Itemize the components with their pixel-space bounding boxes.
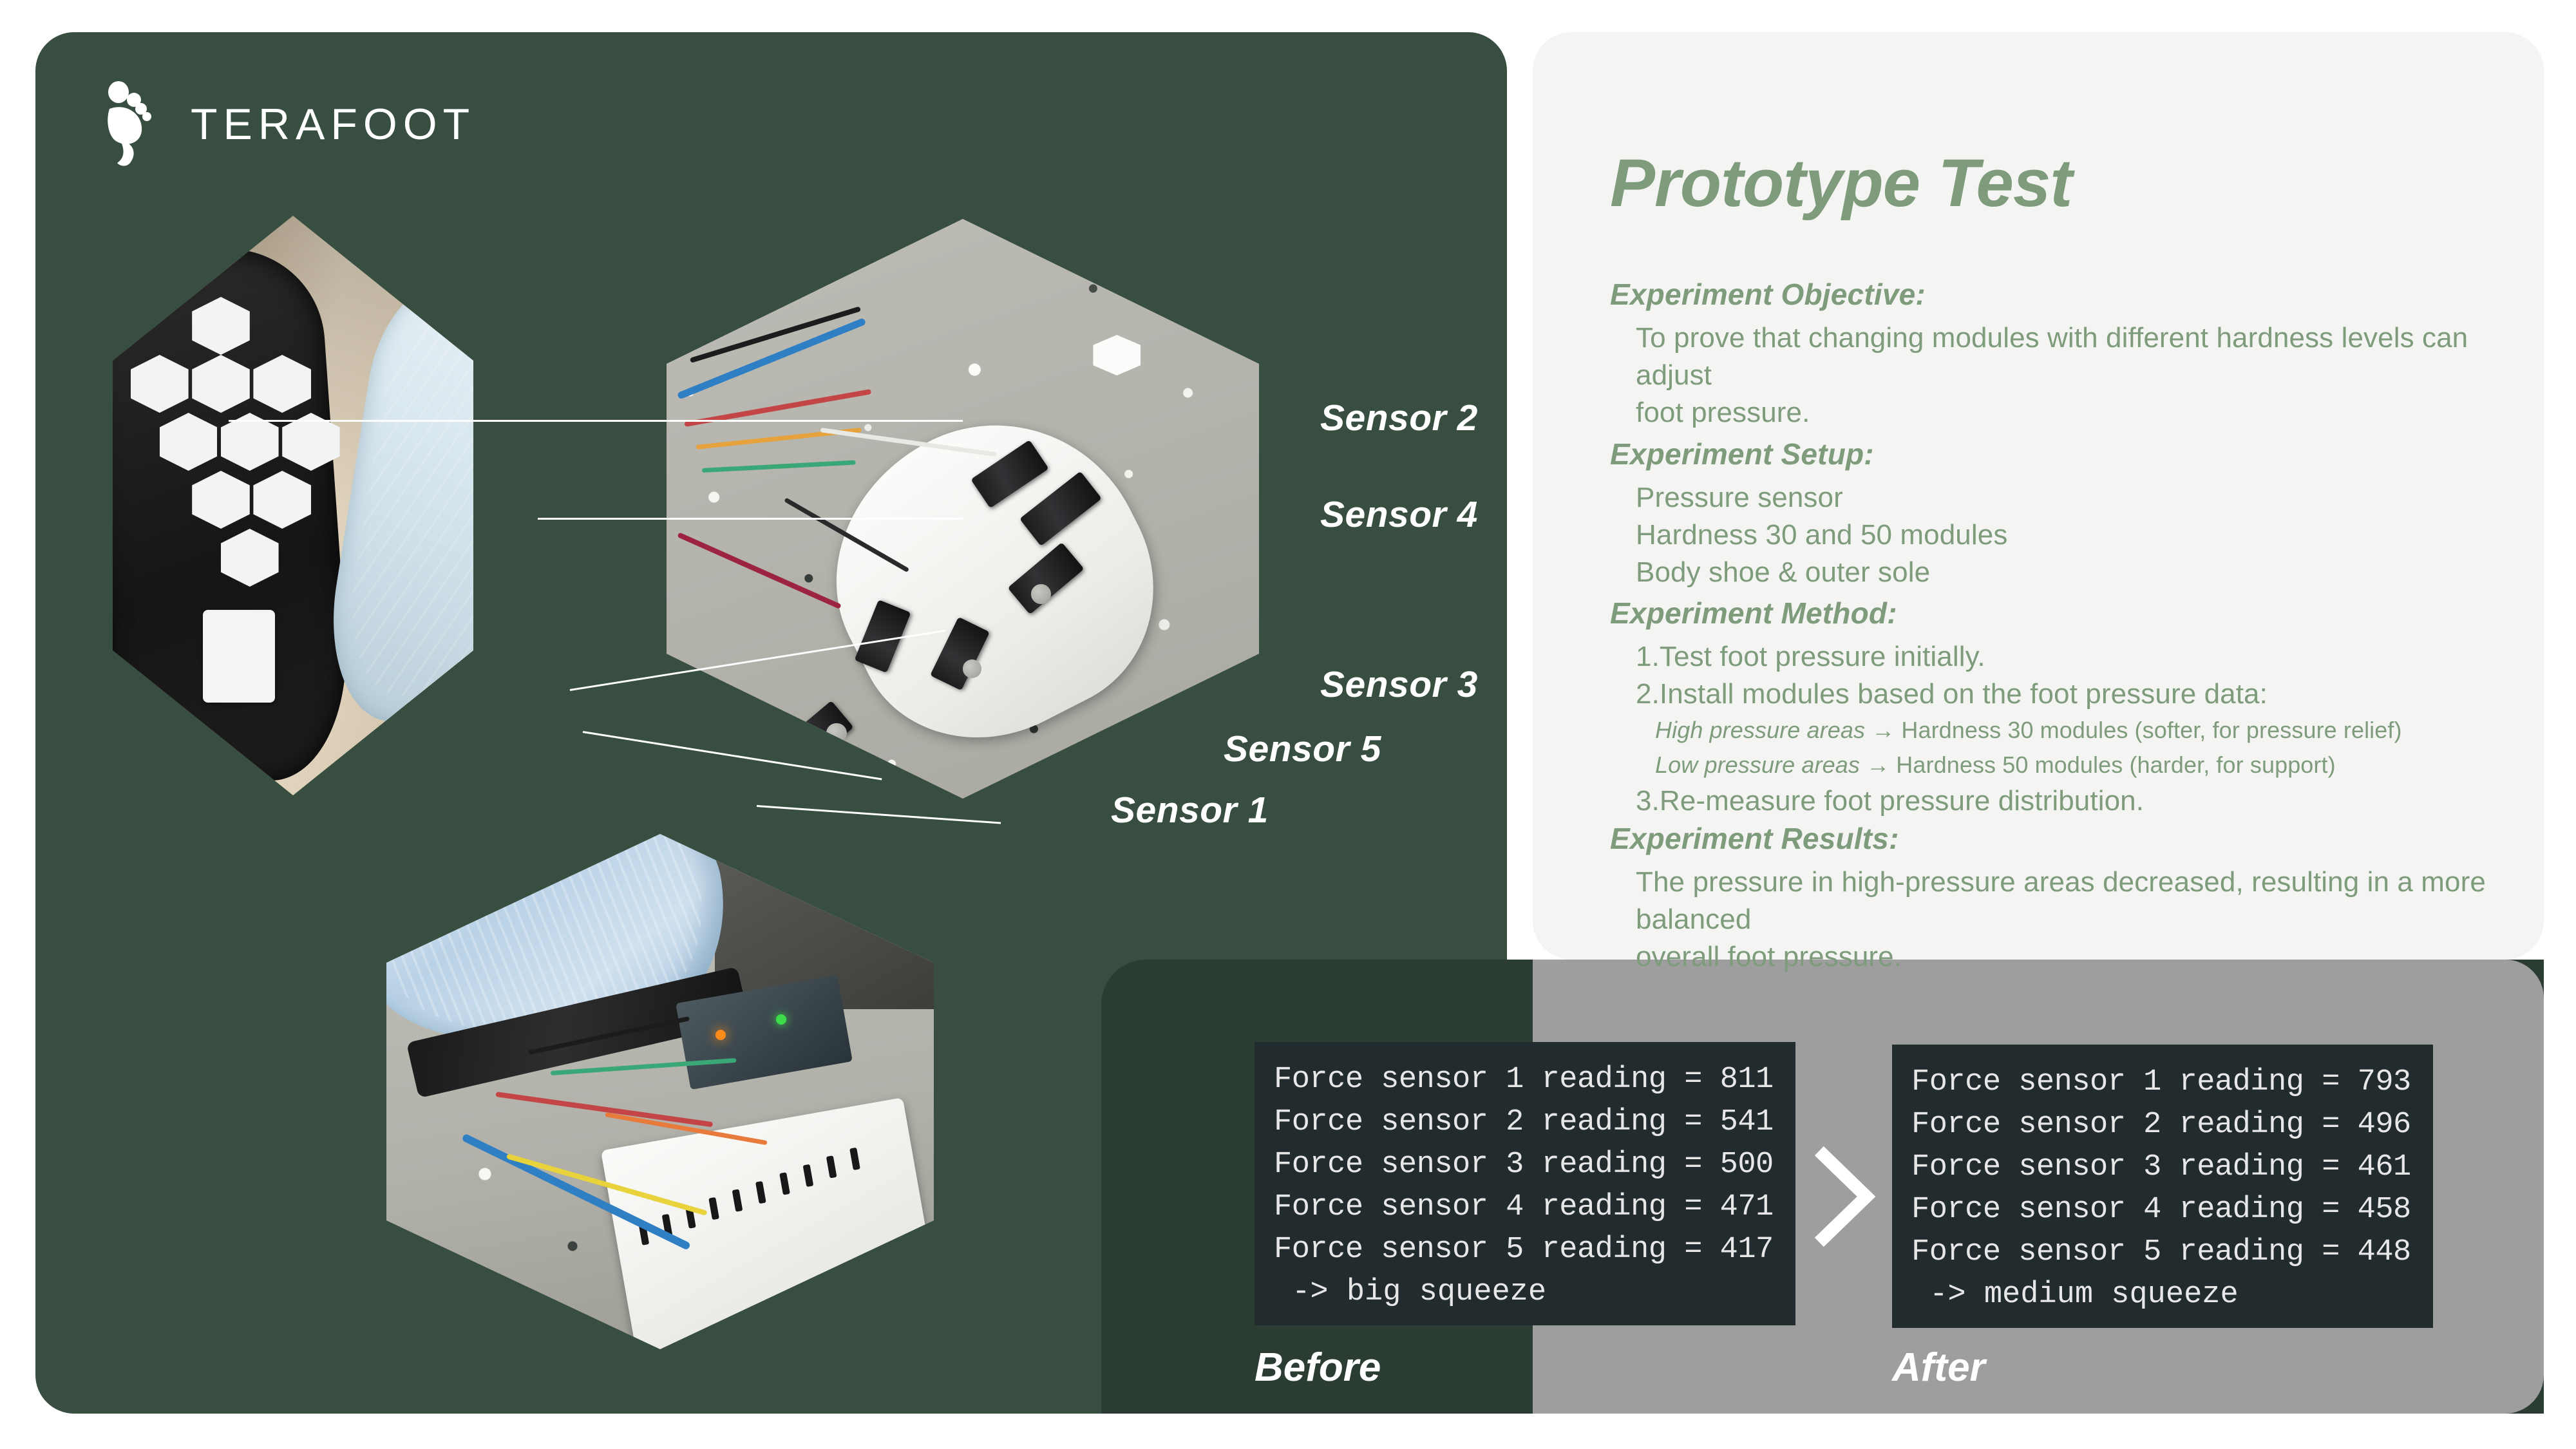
sensor-4-leader-line [538, 518, 963, 520]
setup-heading: Experiment Setup: [1610, 437, 2499, 471]
section-experiment-method: Experiment Method: 1.Test foot pressure … [1610, 596, 2499, 820]
method-step-2: 2.Install modules based on the foot pres… [1636, 676, 2499, 713]
sensor-1-leader-line [757, 805, 1001, 824]
before-label: Before [1255, 1345, 1381, 1390]
high-pressure-emphasis: High pressure areas [1655, 717, 1865, 743]
callout-sensor-1: Sensor 1 [1111, 789, 1269, 831]
after-reading-2: Force sensor 2 reading = 496 [1911, 1104, 2414, 1146]
section-experiment-objective: Experiment Objective: To prove that chan… [1610, 277, 2499, 431]
before-reading-1: Force sensor 1 reading = 811 [1274, 1059, 1776, 1101]
poster-stage: TERAFOOT [0, 0, 2576, 1449]
method-step-1: 1.Test foot pressure initially. [1636, 638, 2499, 676]
after-result-text: -> medium squeeze [1911, 1274, 2414, 1316]
after-reading-4: Force sensor 4 reading = 458 [1911, 1189, 2414, 1231]
low-pressure-emphasis: Low pressure areas [1655, 752, 1860, 778]
setup-line-3: Body shoe & outer sole [1636, 554, 2499, 591]
objective-line-2: foot pressure. [1636, 394, 2499, 431]
results-line-1: The pressure in high-pressure areas decr… [1636, 864, 2499, 938]
running-person-icon [97, 80, 167, 167]
insole-hexagon-modules-photo [113, 216, 473, 795]
method-step-3: 3.Re-measure foot pressure distribution. [1636, 782, 2499, 820]
after-reading-1: Force sensor 1 reading = 793 [1911, 1061, 2414, 1104]
section-experiment-setup: Experiment Setup: Pressure sensor Hardne… [1610, 437, 2499, 591]
method-substep-low-pressure: Low pressure areas → Hardness 50 modules… [1636, 748, 2499, 782]
after-reading-5: Force sensor 5 reading = 448 [1911, 1231, 2414, 1274]
low-pressure-rest: → Hardness 50 modules (harder, for suppo… [1860, 752, 2336, 778]
section-experiment-results: Experiment Results: The pressure in high… [1610, 821, 2499, 976]
before-reading-4: Force sensor 4 reading = 471 [1274, 1186, 1776, 1229]
objective-heading: Experiment Objective: [1610, 277, 2499, 312]
before-reading-3: Force sensor 3 reading = 500 [1274, 1144, 1776, 1186]
after-terminal-readout: Force sensor 1 reading = 793 Force senso… [1892, 1045, 2433, 1328]
callout-sensor-4: Sensor 4 [1320, 493, 1478, 536]
objective-line-1: To prove that changing modules with diff… [1636, 319, 2499, 394]
sensor-insole-photo [667, 219, 1259, 799]
info-panel: Prototype Test Experiment Objective: To … [1533, 32, 2544, 960]
sensor-2-leader-line [229, 420, 963, 422]
before-terminal-readout: Force sensor 1 reading = 811 Force senso… [1255, 1042, 1795, 1325]
setup-line-1: Pressure sensor [1636, 479, 2499, 516]
callout-sensor-3: Sensor 3 [1320, 663, 1478, 706]
callout-sensor-5: Sensor 5 [1224, 728, 1381, 770]
after-reading-3: Force sensor 3 reading = 461 [1911, 1146, 2414, 1189]
after-label: After [1892, 1345, 1985, 1390]
before-reading-2: Force sensor 2 reading = 541 [1274, 1101, 1776, 1144]
callout-sensor-2: Sensor 2 [1320, 397, 1478, 439]
setup-line-2: Hardness 30 and 50 modules [1636, 516, 2499, 554]
chevron-right-icon [1810, 1145, 1880, 1248]
results-heading: Experiment Results: [1610, 821, 2499, 856]
before-result-text: -> big squeeze [1274, 1271, 1776, 1314]
sensor-5-leader-line [583, 731, 882, 780]
results-line-2: overall foot pressure. [1636, 938, 2499, 976]
foot-test-photo [386, 834, 934, 1349]
method-heading: Experiment Method: [1610, 596, 2499, 630]
brand-logo[interactable]: TERAFOOT [97, 80, 475, 167]
page-title: Prototype Test [1610, 145, 2072, 222]
before-reading-5: Force sensor 5 reading = 417 [1274, 1229, 1776, 1271]
high-pressure-rest: → Hardness 30 modules (softer, for press… [1865, 717, 2402, 743]
brand-name: TERAFOOT [191, 102, 475, 146]
method-substep-high-pressure: High pressure areas → Hardness 30 module… [1636, 713, 2499, 748]
